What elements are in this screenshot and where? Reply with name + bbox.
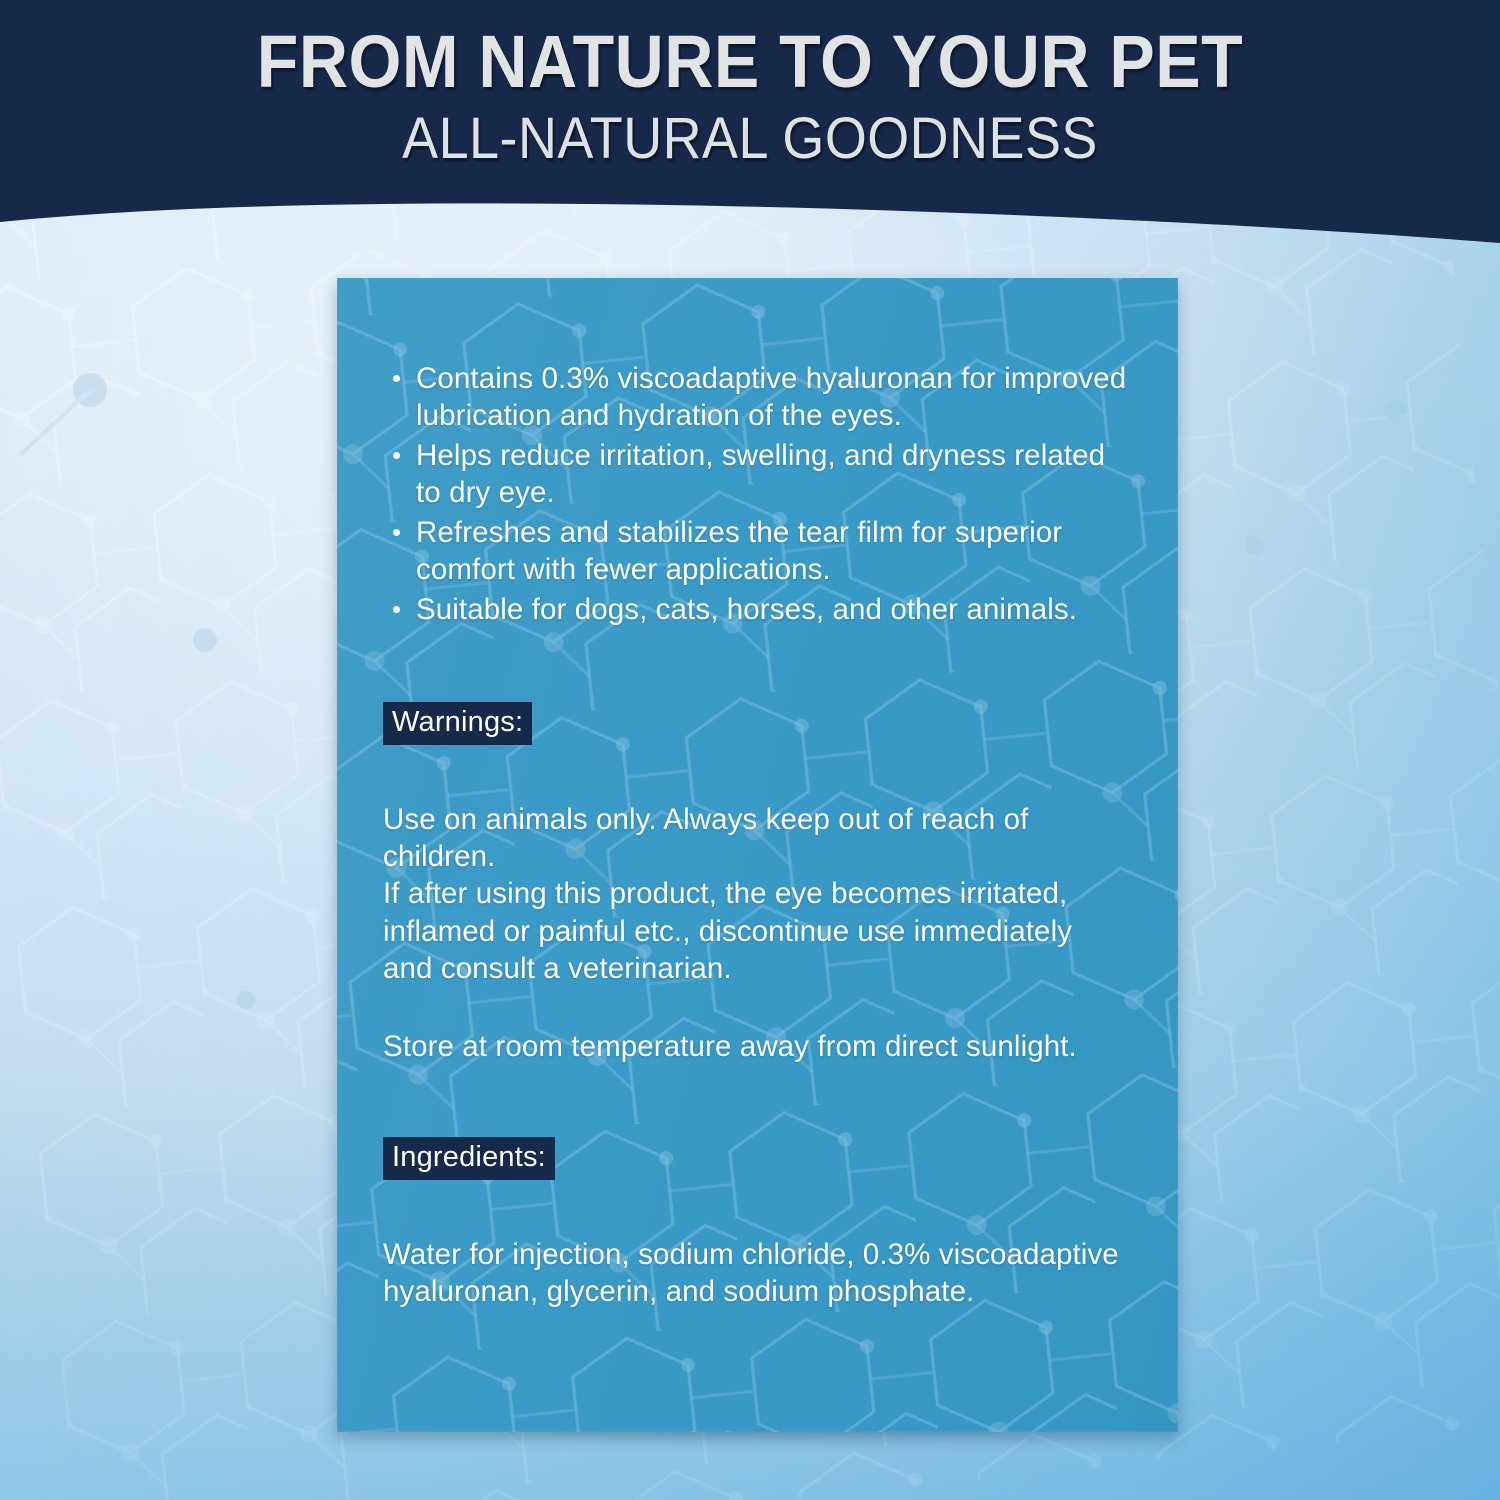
list-item: Helps reduce irritation, swelling, and d… — [383, 437, 1132, 512]
header-banner: FROM NATURE TO YOUR PET ALL-NATURAL GOOD… — [0, 0, 1500, 268]
warnings-text: Use on animals only. Always keep out of … — [383, 801, 1132, 988]
page-subtitle: ALL-NATURAL GOODNESS — [53, 109, 1448, 170]
product-info-panel: Contains 0.3% viscoadaptive hyaluronan f… — [337, 278, 1178, 1432]
benefit-list: Contains 0.3% viscoadaptive hyaluronan f… — [383, 360, 1132, 628]
warnings-heading: Warnings: — [383, 702, 532, 744]
list-item: Suitable for dogs, cats, horses, and oth… — [383, 591, 1132, 628]
ingredients-heading: Ingredients: — [383, 1137, 555, 1179]
page-title: FROM NATURE TO YOUR PET — [60, 26, 1440, 99]
list-item: Contains 0.3% viscoadaptive hyaluronan f… — [383, 360, 1132, 435]
list-item: Refreshes and stabilizes the tear film f… — [383, 514, 1132, 589]
product-infographic: FROM NATURE TO YOUR PET ALL-NATURAL GOOD… — [0, 0, 1500, 1500]
ingredients-text: Water for injection, sodium chloride, 0.… — [383, 1236, 1132, 1311]
storage-text: Store at room temperature away from dire… — [383, 1028, 1132, 1065]
